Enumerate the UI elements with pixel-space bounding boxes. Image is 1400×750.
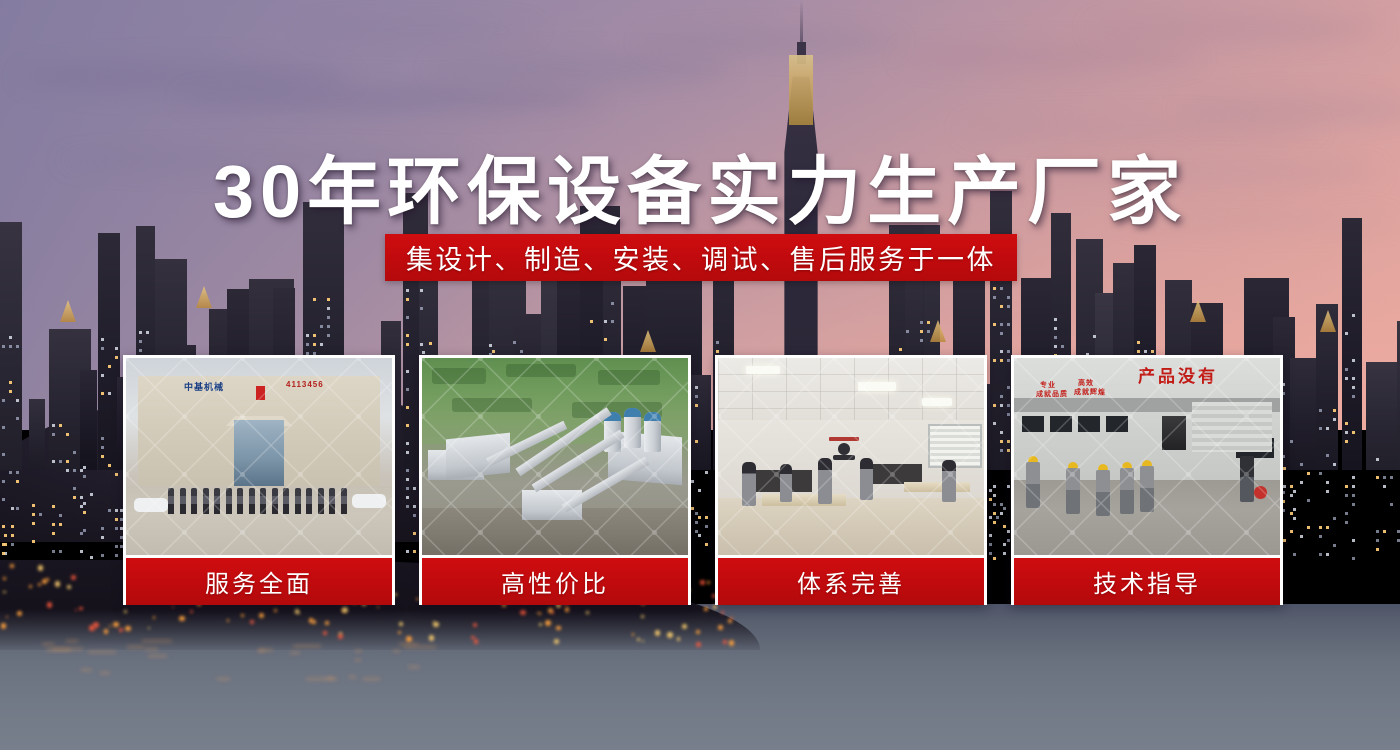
shore-light [556,626,561,631]
shore-light [1,623,6,628]
watermark-dot [718,358,721,361]
feature-card-list: 中基机械 4113456 服务全面 [123,355,1278,605]
shore-light [55,581,61,587]
watermark-dot [182,358,187,361]
watermark-dot [652,472,657,477]
shore-light [682,624,687,629]
watermark-dot [1070,530,1075,535]
building [1366,362,1400,470]
shore-light [227,619,229,621]
watermark-dot [422,530,425,535]
lit-rooftop [196,286,212,308]
shore-light [721,611,723,613]
card-label: 体系完善 [718,558,984,605]
card-label: 高性价比 [422,558,688,605]
shore-light [172,606,174,608]
shore-light [47,602,52,607]
building [80,370,97,470]
shore-light [473,623,477,627]
watermark-dot [1244,530,1249,535]
watermark-dot [298,414,303,419]
watermark-overlay [718,358,984,555]
watermark-dot [126,530,129,535]
watermark-dot [594,414,599,419]
watermark-dot [1186,358,1191,361]
watermark-dot [1186,472,1191,477]
watermark-dot [832,414,837,419]
water-reflection [46,649,70,651]
watermark-dot [356,472,361,477]
watermark-dot [1014,358,1017,361]
watermark-dot [774,472,779,477]
shore-light [10,564,14,568]
lit-rooftop [60,300,76,322]
feature-card[interactable]: 产品没有 专业 成就品质 高效 成就辉煌 [1011,355,1283,605]
watermark-dot [1014,472,1017,477]
watermark-dot [478,358,483,361]
shore-light [377,606,379,608]
tower-lit-crown [789,55,813,125]
shore-light [325,621,329,625]
shore-light [548,608,553,613]
watermark-dot [356,414,361,419]
watermark-dot [298,530,303,535]
shore-light [104,629,109,634]
watermark-dot [718,530,721,535]
card-photo-industrial-plant [422,358,688,555]
watermark-dot [1244,414,1249,419]
water-reflection [88,651,117,653]
shore-light [474,639,479,644]
watermark-dot [1186,414,1191,419]
shore-light [545,620,551,626]
building [1290,358,1317,470]
water-reflection [217,678,229,680]
shore-light [406,636,412,642]
shore-light [399,622,403,626]
watermark-dot [356,358,361,361]
water-reflection [290,652,299,654]
subtitle-banner: 集设计、制造、安装、调试、售后服务于一体 [385,234,1017,281]
watermark-dot [718,472,721,477]
watermark-dot [774,358,779,361]
shore-light [637,638,640,641]
watermark-dot [1014,530,1017,535]
shore-light [539,623,542,626]
card-photo-company-building: 中基机械 4113456 [126,358,392,555]
shore-light [730,617,732,619]
watermark-dot [182,414,187,419]
watermark-dot [948,358,953,361]
watermark-dot [948,472,953,477]
watermark-dot [1070,472,1075,477]
shore-light [471,636,474,639]
card-label-text: 服务全面 [205,564,313,599]
feature-card[interactable]: 高性价比 [419,355,691,605]
watermark-dot [422,472,425,477]
water-reflection [363,678,381,680]
shore-light [586,611,589,614]
watermark-dot [536,358,541,361]
card-label-text: 体系完善 [797,564,905,599]
watermark-dot [1244,358,1249,361]
water-reflection [327,677,334,679]
watermark-dot [1070,358,1075,361]
subtitle-text: 集设计、制造、安装、调试、售后服务于一体 [406,238,996,277]
watermark-dot [182,472,187,477]
water-reflection [355,650,362,652]
watermark-dot [1128,358,1133,361]
watermark-dot [652,530,657,535]
watermark-dot [478,472,483,477]
watermark-dot [718,414,721,419]
building [29,399,45,470]
card-label-text: 高性价比 [501,564,609,599]
watermark-dot [126,414,129,419]
watermark-dot [774,530,779,535]
watermark-overlay [126,358,392,555]
shore-light [42,579,47,584]
shore-light [179,616,184,621]
feature-card[interactable]: 中基机械 4113456 服务全面 [123,355,395,605]
shore-light [565,607,570,612]
watermark-dot [890,414,895,419]
watermark-dot [126,358,129,361]
feature-card[interactable]: 体系完善 [715,355,987,605]
water-reflection [145,648,158,650]
water-reflection [293,645,321,647]
watermark-dot [1244,472,1249,477]
watermark-dot [240,472,245,477]
water-reflection [66,640,78,642]
shore-light [520,610,526,616]
shore-light [723,640,727,644]
shore-light [93,622,99,628]
shore-light [38,583,41,586]
card-photo-office-interior [718,358,984,555]
watermark-dot [536,472,541,477]
watermark-dot [182,530,187,535]
shore-light [79,607,82,610]
watermark-dot [1128,530,1133,535]
watermark-dot [1186,530,1191,535]
watermark-dot [652,358,657,361]
water-reflection [355,659,362,661]
shore-light [429,635,435,641]
water-reflection [42,643,54,645]
water-reflection [142,640,172,642]
water-reflection [258,649,273,651]
shore-light [113,622,119,628]
promo-banner: 30年环保设备实力生产厂家 集设计、制造、安装、调试、售后服务于一体 中基机械 … [0,0,1400,750]
watermark-dot [948,414,953,419]
shore-light [677,637,680,640]
watermark-dot [240,358,245,361]
water-reflection [399,643,418,645]
watermark-dot [240,414,245,419]
shore-light [632,633,634,635]
water-reflection [393,650,401,652]
shore-light [667,632,673,638]
shore-light [696,630,700,634]
watermark-dot [536,530,541,535]
watermark-dot [478,414,483,419]
watermark-dot [594,530,599,535]
shore-light [342,607,348,613]
card-label: 技术指导 [1014,558,1280,605]
shore-light [295,609,300,614]
card-label: 服务全面 [126,558,392,605]
shore-light [119,628,123,632]
water-reflection [404,646,436,648]
watermark-overlay [1014,358,1280,555]
watermark-dot [948,530,953,535]
watermark-dot [652,414,657,419]
watermark-dot [832,472,837,477]
shore-light [554,639,559,644]
water-reflection [349,676,356,678]
card-photo-workers-at-factory: 产品没有 专业 成就品质 高效 成就辉煌 [1014,358,1280,555]
watermark-dot [1014,414,1017,419]
shore-light [71,575,76,580]
watermark-dot [1128,414,1133,419]
page-title: 30年环保设备实力生产厂家 [0,132,1400,239]
watermark-dot [594,358,599,361]
watermark-dot [832,530,837,535]
watermark-dot [478,530,483,535]
water-reflection [100,672,110,674]
water-reflection [127,646,144,648]
watermark-dot [774,414,779,419]
watermark-dot [832,358,837,361]
water-reflection [408,666,420,668]
watermark-dot [422,414,425,419]
shore-light [3,591,5,593]
watermark-dot [298,472,303,477]
watermark-dot [536,414,541,419]
watermark-dot [594,472,599,477]
watermark-dot [126,472,129,477]
shore-light [338,634,343,639]
water-reflection [81,669,91,671]
watermark-dot [422,358,425,361]
shore-light [274,609,277,612]
water-reflection [148,655,166,657]
watermark-dot [890,358,895,361]
card-label-text: 技术指导 [1093,564,1201,599]
shore-light [125,626,131,632]
watermark-dot [356,530,361,535]
shore-light [153,616,155,618]
shore-light [250,620,254,624]
watermark-dot [1070,414,1075,419]
watermark-dot [890,472,895,477]
watermark-dot [890,530,895,535]
watermark-overlay [422,358,688,555]
watermark-dot [240,530,245,535]
watermark-dot [1128,472,1133,477]
watermark-dot [298,358,303,361]
